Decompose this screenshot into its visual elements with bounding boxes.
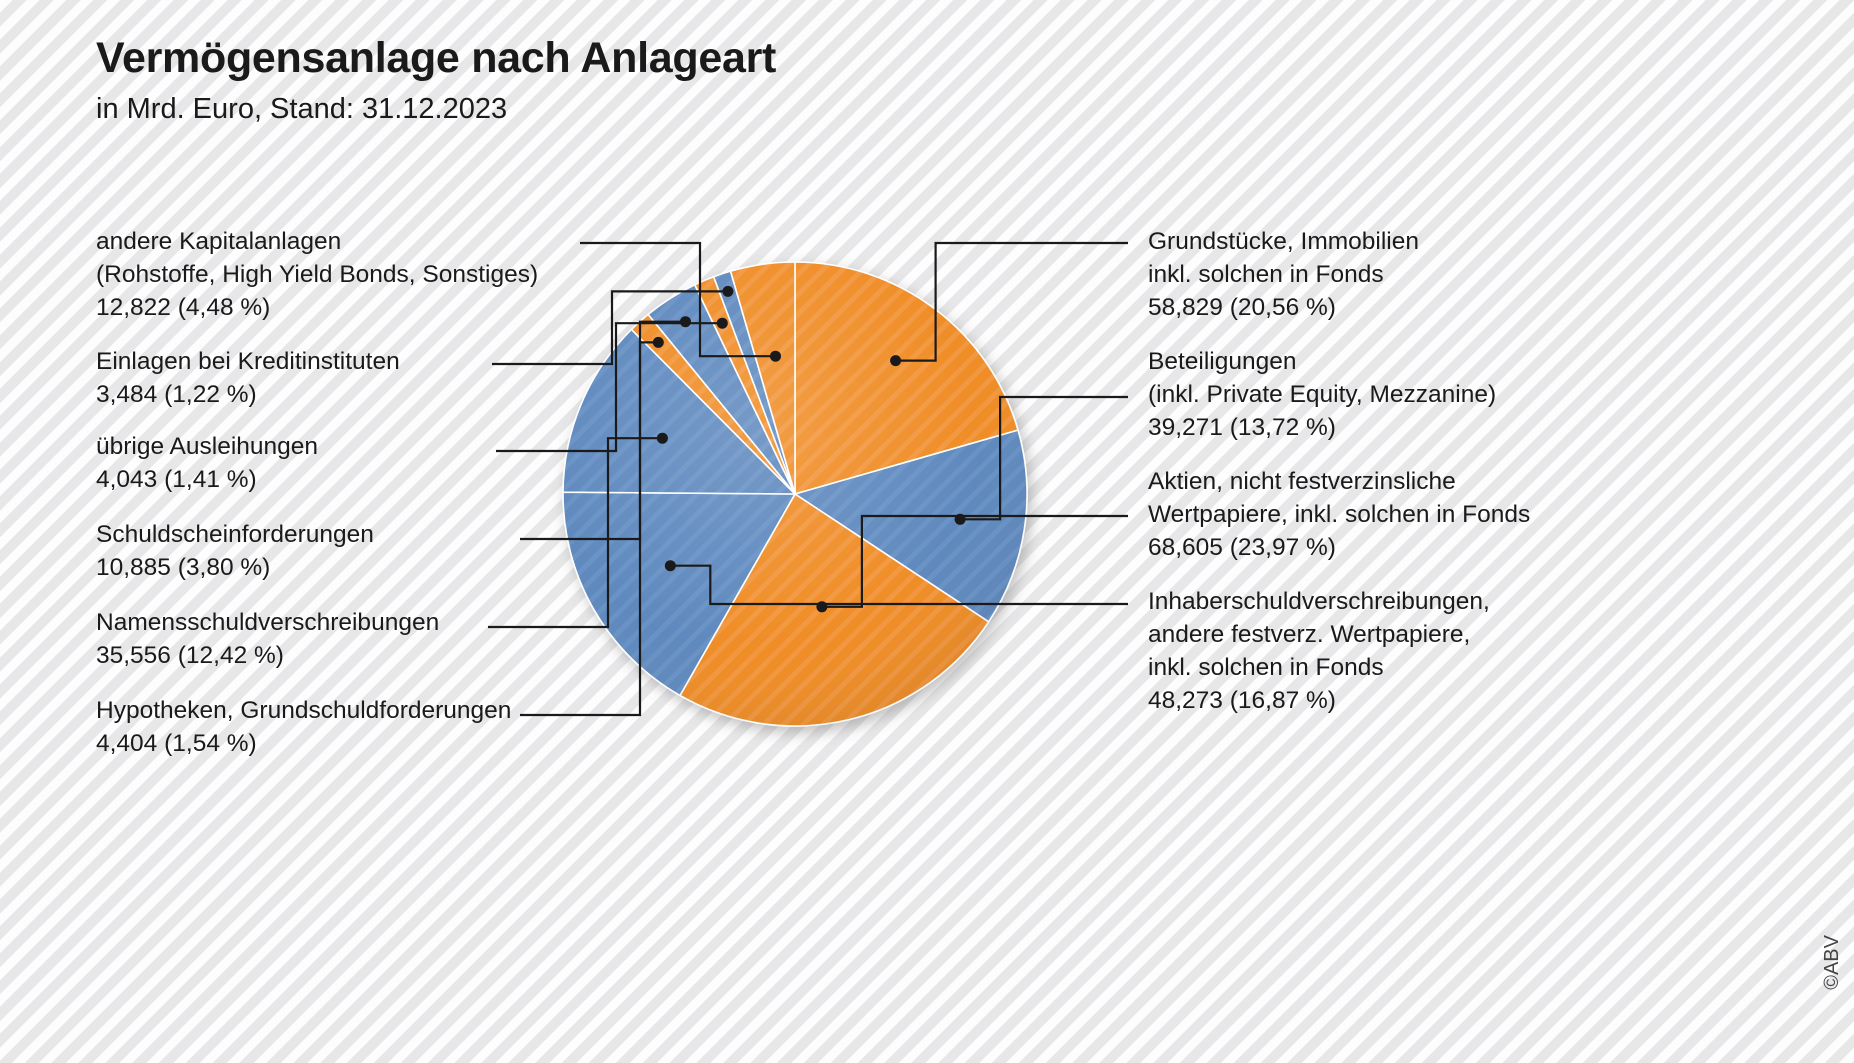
- leader-dot: [657, 433, 668, 444]
- pie-slice: [648, 285, 795, 494]
- label-value: 4,043 (1,41 %): [96, 463, 318, 496]
- label-namensschuldverschreibungen: Namensschuldverschreibungen 35,556 (12,4…: [96, 606, 439, 672]
- label-line: Grundstücke, Immobilien: [1148, 225, 1419, 258]
- label-einlagen-kreditinstitute: Einlagen bei Kreditinstituten 3,484 (1,2…: [96, 345, 400, 411]
- label-value: 3,484 (1,22 %): [96, 378, 400, 411]
- label-hypotheken-grundschuldforderungen: Hypotheken, Grundschuldforderungen 4,404…: [96, 694, 511, 760]
- leader-line: [960, 397, 1128, 519]
- label-value: 4,404 (1,54 %): [96, 727, 511, 760]
- pie-slice: [731, 262, 795, 494]
- page-title: Vermögensanlage nach Anlageart: [96, 36, 1296, 81]
- label-value: 10,885 (3,80 %): [96, 551, 374, 584]
- leader-line: [670, 566, 1128, 604]
- label-line: Beteiligungen: [1148, 345, 1496, 378]
- label-line: übrige Ausleihungen: [96, 430, 318, 463]
- leader-dot: [680, 316, 691, 327]
- leader-dot-group: [653, 286, 966, 612]
- copyright-notice: ©ABV: [1821, 935, 1844, 990]
- label-value: 58,829 (20,56 %): [1148, 291, 1419, 324]
- pie-slice: [680, 494, 989, 726]
- label-line: andere Kapitalanlagen: [96, 225, 538, 258]
- pie-slice: [631, 314, 795, 494]
- label-line: (Rohstoffe, High Yield Bonds, Sonstiges): [96, 258, 538, 291]
- label-line: Einlagen bei Kreditinstituten: [96, 345, 400, 378]
- label-schuldscheinforderungen: Schuldscheinforderungen 10,885 (3,80 %): [96, 518, 374, 584]
- chart-subtitle: in Mrd. Euro, Stand: 31.12.2023: [96, 94, 1296, 126]
- label-andere-kapitalanlagen: andere Kapitalanlagen (Rohstoffe, High Y…: [96, 225, 538, 324]
- label-line: Schuldscheinforderungen: [96, 518, 374, 551]
- label-value: 12,822 (4,48 %): [96, 291, 538, 324]
- leader-line-group: [488, 243, 1128, 715]
- pie-slice: [695, 277, 795, 494]
- chart-canvas: Vermögensanlage nach Anlageart in Mrd. E…: [0, 0, 1854, 1063]
- label-value: 39,271 (13,72 %): [1148, 411, 1496, 444]
- label-value: 48,273 (16,87 %): [1148, 684, 1490, 717]
- leader-line: [580, 243, 776, 356]
- label-uebrige-ausleihungen: übrige Ausleihungen 4,043 (1,41 %): [96, 430, 318, 496]
- label-value: 68,605 (23,97 %): [1148, 531, 1530, 564]
- pie-slice: [714, 271, 795, 494]
- pie-slice-group: [563, 262, 1027, 726]
- label-line: Aktien, nicht festverzinsliche: [1148, 465, 1530, 498]
- pie-slice: [795, 262, 1018, 494]
- chart-header: Vermögensanlage nach Anlageart in Mrd. E…: [96, 36, 1296, 126]
- leader-dot: [816, 601, 827, 612]
- label-line: inkl. solchen in Fonds: [1148, 651, 1490, 684]
- pie-slice: [795, 430, 1027, 622]
- label-value: 35,556 (12,42 %): [96, 639, 439, 672]
- label-line: Namensschuldverschreibungen: [96, 606, 439, 639]
- label-inhaberschuldverschreibungen: Inhaberschuldverschreibungen, andere fes…: [1148, 585, 1490, 717]
- leader-dot: [653, 337, 664, 348]
- label-line: andere festverz. Wertpapiere,: [1148, 618, 1490, 651]
- leader-dot: [955, 514, 966, 525]
- leader-line: [520, 322, 686, 539]
- label-grundstuecke-immobilien: Grundstücke, Immobilien inkl. solchen in…: [1148, 225, 1419, 324]
- leader-line: [520, 342, 658, 715]
- leader-dot: [722, 286, 733, 297]
- label-line: inkl. solchen in Fonds: [1148, 258, 1419, 291]
- label-line: Hypotheken, Grundschuldforderungen: [96, 694, 511, 727]
- label-aktien-nicht-festverzinsliche: Aktien, nicht festverzinsliche Wertpapie…: [1148, 465, 1530, 564]
- leader-dot: [717, 318, 728, 329]
- leader-line: [496, 323, 722, 451]
- label-line: Wertpapiere, inkl. solchen in Fonds: [1148, 498, 1530, 531]
- leader-dot: [665, 560, 676, 571]
- pie-slice: [563, 492, 795, 695]
- leader-line: [822, 516, 1128, 607]
- label-line: Inhaberschuldverschreibungen,: [1148, 585, 1490, 618]
- leader-line: [896, 243, 1128, 361]
- label-beteiligungen: Beteiligungen (inkl. Private Equity, Mez…: [1148, 345, 1496, 444]
- pie-slice: [563, 329, 795, 494]
- leader-dot: [770, 351, 781, 362]
- label-line: (inkl. Private Equity, Mezzanine): [1148, 378, 1496, 411]
- leader-line: [488, 438, 662, 627]
- leader-dot: [890, 355, 901, 366]
